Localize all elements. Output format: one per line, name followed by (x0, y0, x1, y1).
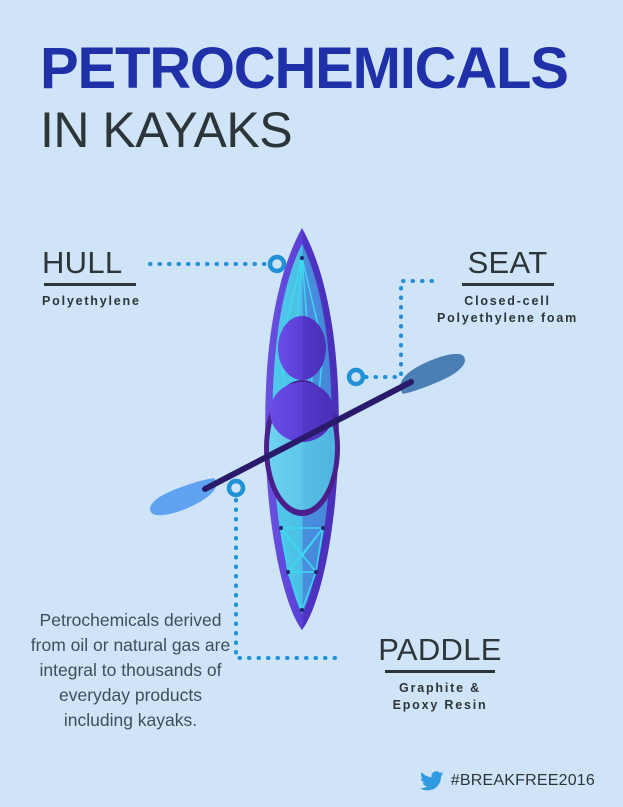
callout-seat-subtitle-line-1: Closed-cell (400, 293, 615, 310)
body-copy: Petrochemicals derived from oil or natur… (28, 608, 233, 733)
paddle-blade-left (150, 478, 216, 515)
callout-hull: HULL Polyethylene (42, 246, 141, 310)
callout-paddle-subtitle-line-1: Graphite & (340, 680, 540, 697)
infographic-poster: PETROCHEMICALS IN KAYAKS (0, 0, 623, 807)
bow-rigging-anchors (279, 256, 325, 434)
twitter-bird-icon (420, 771, 444, 791)
callout-paddle-subtitle-line-2: Epoxy Resin (340, 697, 540, 714)
kayak-paddle (150, 354, 465, 515)
stern-bungee-rigging (281, 528, 323, 610)
callout-seat: SEAT Closed-cell Polyethylene foam (400, 246, 615, 327)
title-primary: PETROCHEMICALS (40, 40, 600, 98)
callout-seat-title: SEAT (400, 246, 615, 280)
callout-seat-subtitle-line-2: Polyethylene foam (400, 310, 615, 327)
paddle-shaft (205, 382, 411, 489)
callout-hull-title: HULL (42, 246, 141, 280)
connector-paddle (229, 481, 344, 658)
callout-hull-rule (44, 283, 136, 286)
callout-hull-subtitle-line-1: Polyethylene (42, 293, 141, 310)
connector-hull (150, 257, 284, 271)
kayak-seat-pad (270, 382, 334, 442)
paddle-blade-right (400, 354, 465, 394)
footer-hashtag: #BREAKFREE2016 (451, 772, 595, 790)
stern-rigging-anchors (279, 526, 325, 612)
kayak-hull (265, 228, 339, 630)
callout-paddle: PADDLE Graphite & Epoxy Resin (340, 633, 540, 714)
footer: #BREAKFREE2016 (420, 771, 595, 791)
callout-seat-rule (462, 283, 554, 286)
callout-paddle-rule (385, 670, 495, 673)
bow-hatch-cover (278, 316, 326, 380)
bow-bungee-rigging (281, 258, 323, 432)
title-secondary: IN KAYAKS (40, 102, 600, 158)
kayak-cockpit (264, 380, 340, 516)
callout-paddle-title: PADDLE (340, 633, 540, 667)
page-title: PETROCHEMICALS IN KAYAKS (40, 40, 600, 158)
